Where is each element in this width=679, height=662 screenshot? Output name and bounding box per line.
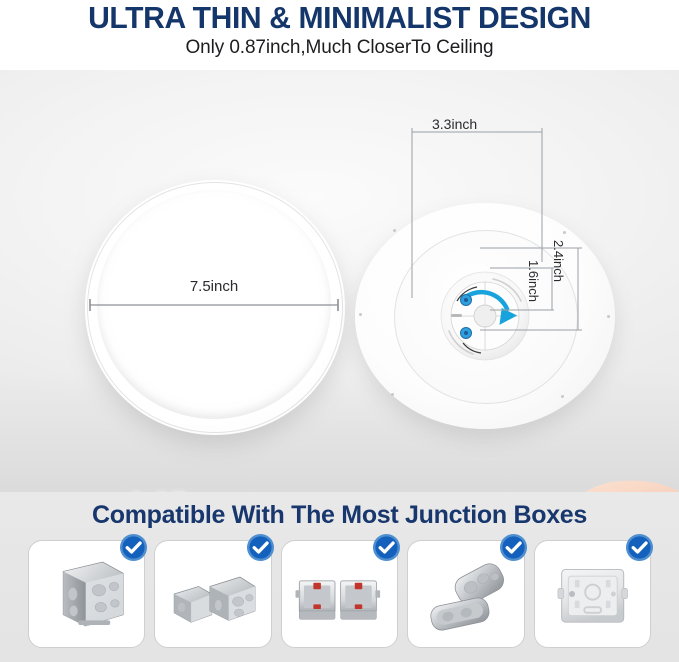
backplate-outer-height-label: 2.4inch bbox=[551, 240, 566, 282]
backplate-screw-hole bbox=[561, 395, 564, 398]
page-title: ULTRA THIN & MINIMALIST DESIGN bbox=[10, 1, 669, 34]
backplate-inner-height-label: 1.6inch bbox=[526, 260, 541, 302]
check-badge-icon bbox=[499, 533, 528, 562]
compatibility-section: Compatible With The Most Junction Boxes bbox=[0, 492, 679, 662]
product-infographic: ULTRA THIN & MINIMALIST DESIGN Only 0.87… bbox=[0, 0, 679, 662]
junction-box-card-list bbox=[28, 540, 651, 648]
backplate-width-label: 3.3inch bbox=[432, 116, 477, 132]
backplate-screw-hole bbox=[391, 393, 394, 396]
junction-box-card[interactable] bbox=[534, 540, 651, 648]
junction-box-card[interactable] bbox=[154, 540, 271, 648]
diameter-dimension-line bbox=[88, 298, 340, 312]
header-band: ULTRA THIN & MINIMALIST DESIGN Only 0.87… bbox=[0, 0, 679, 70]
product-stage: 7.5inch bbox=[0, 70, 679, 492]
check-badge-icon bbox=[372, 533, 401, 562]
diameter-dimension-label: 7.5inch bbox=[88, 278, 340, 295]
junction-box-card[interactable] bbox=[407, 540, 524, 648]
check-badge-icon bbox=[119, 533, 148, 562]
junction-box-card[interactable] bbox=[28, 540, 145, 648]
check-badge-icon bbox=[246, 533, 275, 562]
junction-box-card[interactable] bbox=[281, 540, 398, 648]
diameter-dimension-7-5inch: 7.5inch bbox=[88, 298, 340, 312]
page-subtitle: Only 0.87inch,Much CloserTo Ceiling bbox=[0, 36, 679, 59]
compatibility-title: Compatible With The Most Junction Boxes bbox=[0, 501, 679, 529]
backplate-dimension-lines bbox=[350, 110, 610, 370]
check-badge-icon bbox=[625, 533, 654, 562]
